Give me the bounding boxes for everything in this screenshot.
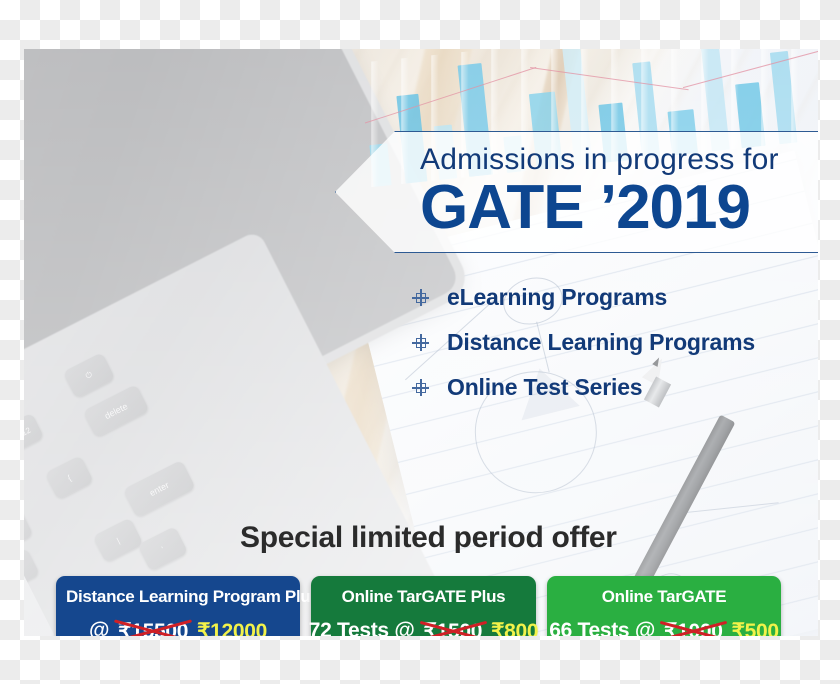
crosshair-bullet-icon <box>412 334 429 351</box>
new-price: ₹12000 <box>197 619 267 636</box>
keyboard-key-plus: + <box>24 508 33 553</box>
old-price: ₹1500 <box>422 619 485 636</box>
price-prefix: 72 Tests @ <box>309 619 415 636</box>
price-prefix: @ <box>89 619 109 636</box>
price-card-online-targate[interactable]: Online TarGATE 66 Tests @ ₹1000 ₹500 <box>547 576 781 636</box>
headline-kicker: Admissions in progress for <box>420 145 818 175</box>
keyboard-key-power: ⏻ <box>63 352 116 399</box>
price-prefix: 66 Tests @ <box>549 619 655 636</box>
keyboard-key-backslash: | <box>93 517 144 563</box>
price-card-title: Online TarGATE <box>557 587 771 607</box>
keyboard-key-return: enter <box>123 460 196 518</box>
price-card-list: Distance Learning Program Plus @ ₹15500 … <box>56 576 796 636</box>
crosshair-bullet-icon <box>412 289 429 306</box>
list-item: Online Test Series <box>412 365 755 410</box>
price-card-price: 66 Tests @ ₹1000 ₹500 <box>557 619 771 636</box>
keyboard-key-quote: ' <box>137 526 188 572</box>
promo-banner: ⏻ delete 🔊 F12 🔉 F11 🔇 F10 { + = – enter… <box>24 49 818 636</box>
feature-list: eLearning Programs Distance Learning Pro… <box>412 275 755 410</box>
keyboard-key-f12: 🔊 F12 <box>24 413 44 458</box>
page-title: GATE ’2019 <box>420 177 818 239</box>
list-item: eLearning Programs <box>412 275 755 320</box>
old-price: ₹15500 <box>116 619 190 636</box>
new-price: ₹500 <box>732 619 779 636</box>
headline-panel: Admissions in progress for GATE ’2019 <box>335 131 818 253</box>
price-card-title: Online TarGATE Plus <box>321 587 526 607</box>
feature-label: eLearning Programs <box>447 284 667 311</box>
crosshair-bullet-icon <box>412 379 429 396</box>
price-card-price: @ ₹15500 ₹12000 <box>66 619 290 636</box>
keyboard-key-bracket: { <box>45 455 94 500</box>
offer-heading: Special limited period offer <box>240 521 617 555</box>
list-item: Distance Learning Programs <box>412 320 755 365</box>
new-price: ₹800 <box>491 619 538 636</box>
keyboard-key-delete: delete <box>83 384 150 438</box>
price-card-title: Distance Learning Program Plus <box>66 587 290 607</box>
price-card-distance-learning-program-plus[interactable]: Distance Learning Program Plus @ ₹15500 … <box>56 576 300 636</box>
old-price: ₹1000 <box>662 619 725 636</box>
price-card-price: 72 Tests @ ₹1500 ₹800 <box>321 619 526 636</box>
feature-label: Online Test Series <box>447 374 642 401</box>
feature-label: Distance Learning Programs <box>447 329 755 356</box>
price-card-online-targate-plus[interactable]: Online TarGATE Plus 72 Tests @ ₹1500 ₹80… <box>311 576 536 636</box>
